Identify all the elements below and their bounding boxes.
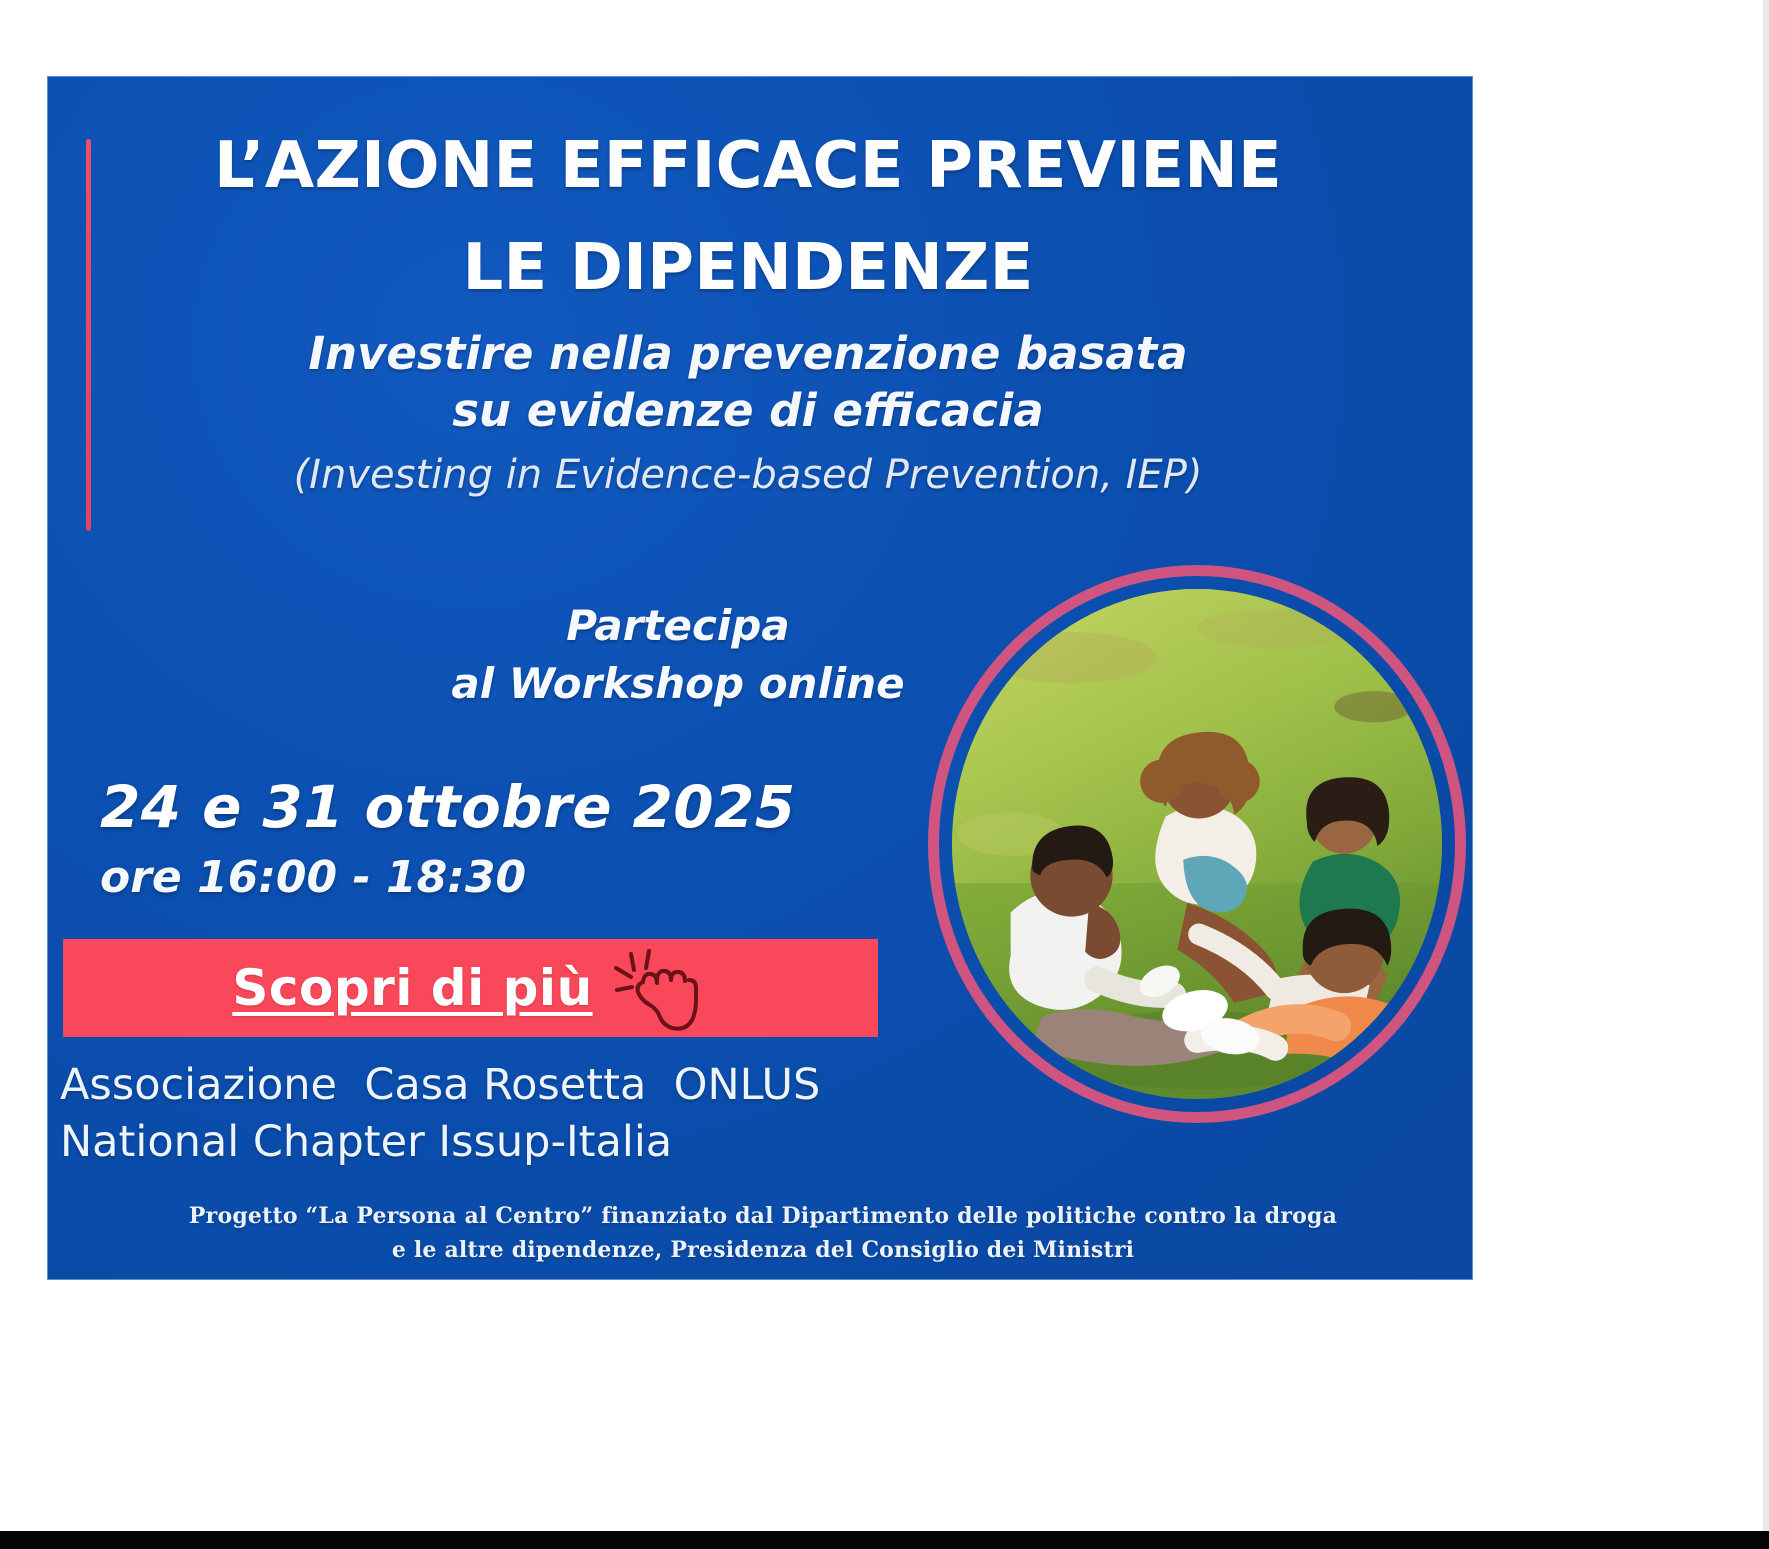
poster-subheadline: Investire nella prevenzione basata su ev…: [168, 325, 1328, 439]
headline-line-1: L’AZIONE EFFICACE PREVIENE: [214, 129, 1282, 203]
footer-funding-note: Progetto “La Persona al Centro” finanzia…: [108, 1199, 1418, 1267]
poster-subnote-english: (Investing in Evidence-based Prevention,…: [168, 451, 1328, 499]
bottom-black-strip: [0, 1531, 1769, 1549]
headline-line-2: LE DIPENDENZE: [168, 235, 1328, 303]
discover-more-button[interactable]: Scopri di più: [63, 939, 878, 1037]
page-canvas: L’AZIONE EFFICACE PREVIENE LE DIPENDENZE…: [0, 0, 1769, 1549]
photo-ring: [928, 565, 1466, 1123]
poster-headline: L’AZIONE EFFICACE PREVIENE LE DIPENDENZE: [168, 133, 1328, 303]
promo-poster: L’AZIONE EFFICACE PREVIENE LE DIPENDENZE…: [48, 77, 1472, 1279]
event-date: 24 e 31 ottobre 2025: [100, 777, 900, 838]
subhead-line-2: su evidenze di efficacia: [452, 384, 1043, 437]
discover-more-label: Scopri di più: [232, 959, 592, 1017]
event-time: ore 16:00 - 18:30: [100, 854, 900, 902]
right-edge-rule: [1763, 0, 1769, 1531]
footer-line-1: Progetto “La Persona al Centro” finanzia…: [108, 1199, 1418, 1233]
participate-line-2: al Workshop online: [368, 655, 988, 713]
left-accent-rule: [86, 139, 91, 531]
pointing-hand-click-icon: [613, 946, 709, 1032]
organisation-line-1: Associazione Casa Rosetta ONLUS: [60, 1057, 960, 1114]
group-photo-illustration: [952, 589, 1442, 1099]
organisation-block: Associazione Casa Rosetta ONLUS National…: [60, 1057, 960, 1171]
headline-block: L’AZIONE EFFICACE PREVIENE LE DIPENDENZE…: [168, 133, 1328, 499]
event-datetime-block: 24 e 31 ottobre 2025 ore 16:00 - 18:30: [100, 777, 900, 902]
group-photo: [952, 589, 1442, 1099]
participate-line-1: Partecipa: [368, 597, 988, 655]
footer-line-2: e le altre dipendenze, Presidenza del Co…: [108, 1233, 1418, 1267]
participate-block: Partecipa al Workshop online: [368, 597, 988, 713]
subhead-line-1: Investire nella prevenzione basata: [308, 327, 1187, 380]
organisation-line-2: National Chapter Issup-Italia: [60, 1114, 960, 1171]
